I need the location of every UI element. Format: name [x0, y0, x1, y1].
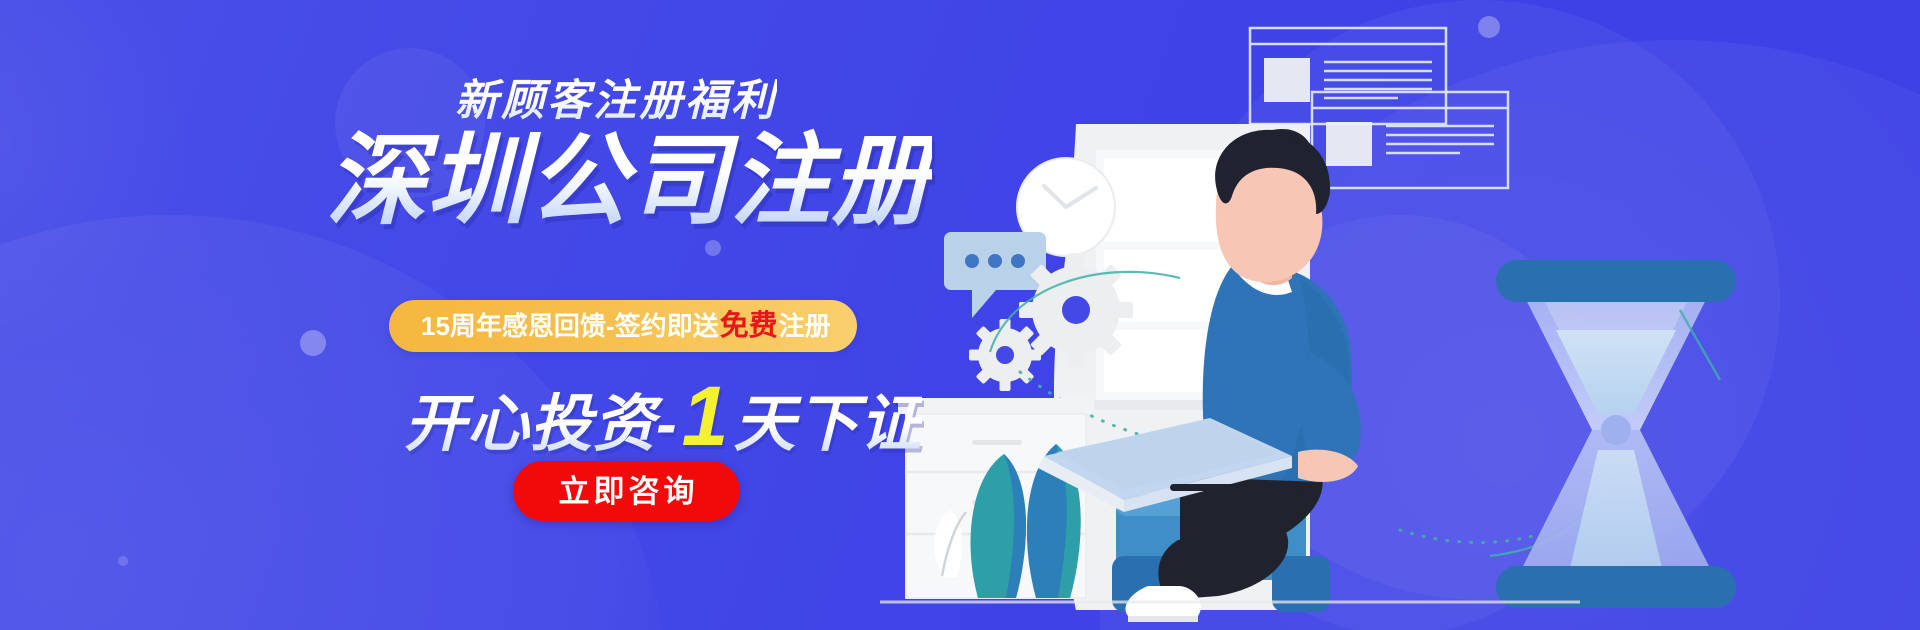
promo-pill-tail-text: 注册 [779, 313, 831, 339]
subline-lead-text: 开心投资- [404, 373, 678, 463]
promo-banner: 新顾客注册福利 深圳公司注册 15周年感恩回馈-签约即送 免费 注册 开心投资-… [0, 0, 1920, 630]
promo-pill-badge: 15周年感恩回馈-签约即送 免费 注册 [389, 300, 857, 352]
banner-eyebrow: 新顾客注册福利 [455, 66, 777, 128]
banner-headline: 深圳公司注册 [326, 128, 932, 234]
banner-copy: 新顾客注册福利 深圳公司注册 15周年感恩回馈-签约即送 免费 注册 开心投资-… [0, 0, 950, 630]
consult-now-button-label: 立即咨询 [555, 476, 699, 507]
consult-now-button[interactable]: 立即咨询 [513, 461, 740, 521]
subline-number: 1 [682, 368, 730, 465]
promo-pill-lead-text: 15周年感恩回馈-签约即送 [421, 313, 719, 339]
banner-subline: 开心投资- 1 天下证 [404, 368, 922, 465]
promo-pill-highlight-text: 免费 [720, 312, 778, 341]
subline-tail-text: 天下证 [733, 373, 922, 463]
hero-illustration [880, 0, 1920, 630]
